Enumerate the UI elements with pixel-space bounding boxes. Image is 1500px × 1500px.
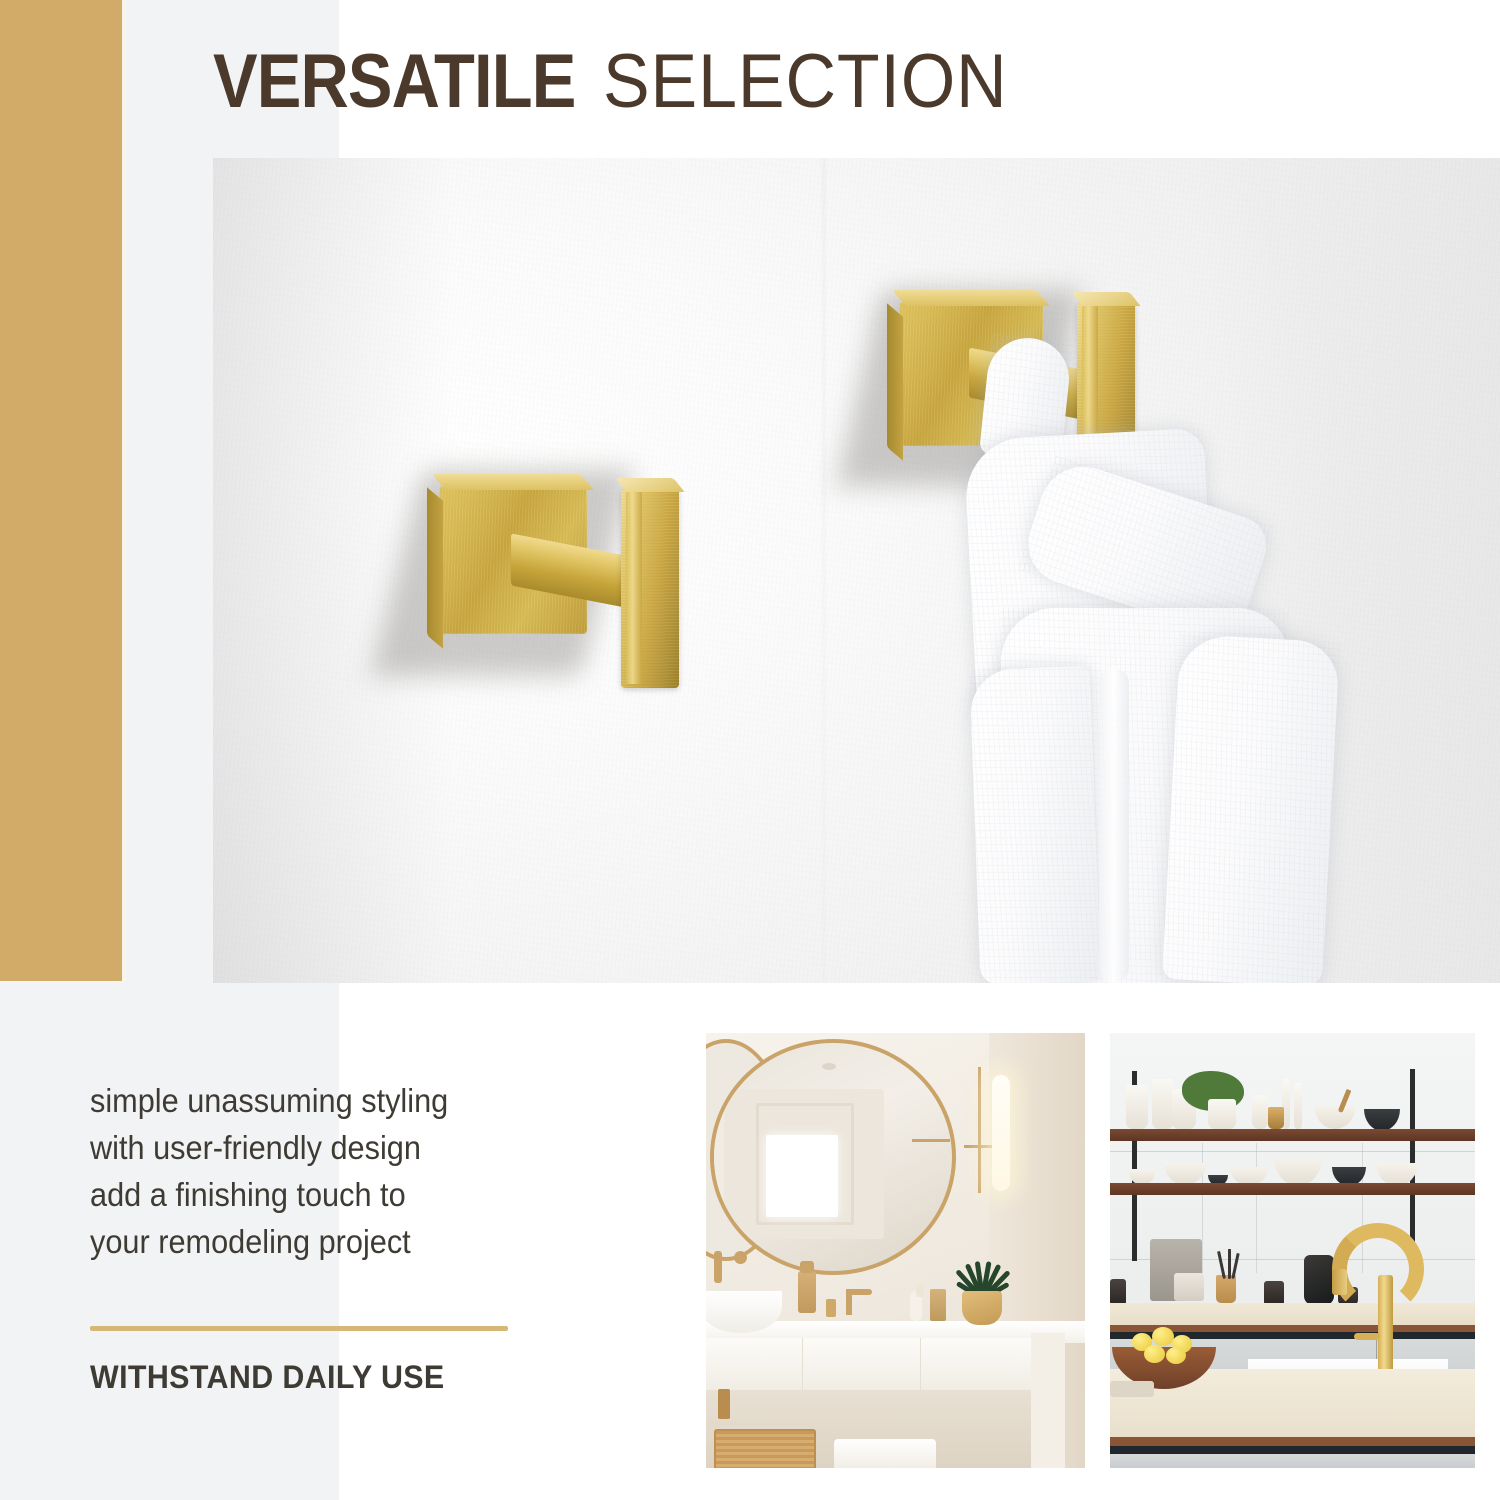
- mirror-reflection-rail: [912, 1139, 950, 1142]
- folded-towel: [834, 1439, 936, 1468]
- glass-vase: [1294, 1083, 1302, 1129]
- gold-planter: [962, 1291, 1002, 1325]
- counter-faucet-stem: [846, 1289, 852, 1315]
- hanging-leather-strap: [718, 1389, 730, 1419]
- tagline: WITHSTAND DAILY USE: [90, 1359, 445, 1396]
- description-line: your remodeling project: [90, 1219, 583, 1266]
- hero-product-photo: [213, 158, 1500, 983]
- island-reveal: [1110, 1446, 1475, 1454]
- ivory-seam: [122, 0, 126, 981]
- gold-tumbler: [930, 1289, 946, 1321]
- dark-cup: [1110, 1279, 1126, 1305]
- hook-bar-top-bevel: [1072, 292, 1141, 306]
- vanity-cabinet: [706, 1338, 1047, 1391]
- description-line: add a finishing touch to: [90, 1172, 583, 1219]
- hook-plate-top-bevel: [892, 290, 1049, 306]
- ceramic-pitcher: [1152, 1079, 1174, 1129]
- hook-bar-highlight: [1082, 306, 1098, 494]
- black-canister: [1264, 1281, 1284, 1305]
- faucet-spout: [1332, 1269, 1347, 1295]
- wicker-basket: [714, 1429, 816, 1468]
- walnut-shelf-top: [1110, 1129, 1475, 1141]
- lemon: [1152, 1327, 1174, 1346]
- wall-faucet-handle: [734, 1251, 747, 1264]
- towel-hook-left: [413, 428, 733, 718]
- utensil: [1228, 1249, 1231, 1279]
- mirror-reflection-ceiling-light: [822, 1063, 836, 1070]
- mirror-reflection-window: [766, 1135, 838, 1217]
- wall-corner-line: [823, 158, 825, 983]
- glass-jar: [1252, 1095, 1268, 1129]
- soap-dispenser-pump: [800, 1261, 814, 1273]
- lemon: [1144, 1345, 1165, 1363]
- wall-faucet-spout: [714, 1251, 722, 1283]
- gold-divider-rule: [90, 1326, 508, 1331]
- tile-grout-line: [1256, 1143, 1257, 1273]
- title-light-word: SELECTION: [603, 44, 1008, 120]
- thumbnail-bathroom: [706, 1033, 1085, 1468]
- description-line: simple unassuming styling: [90, 1078, 583, 1125]
- island-edge: [1110, 1437, 1475, 1446]
- lotion-bottle-cap: [916, 1285, 924, 1297]
- page-title: VERSATILE SELECTION: [213, 34, 1313, 130]
- island-cabinets: [1110, 1454, 1475, 1468]
- vanity-drawer-seam: [920, 1338, 921, 1390]
- wall-shading-right: [1200, 158, 1500, 983]
- round-gold-mirror: [710, 1039, 956, 1275]
- ceramic-pitcher: [1126, 1085, 1148, 1129]
- hook-bar-top-bevel: [616, 478, 685, 492]
- honey-jar: [1268, 1107, 1284, 1129]
- counter-accessory-small: [826, 1299, 836, 1317]
- utensil-holder: [1216, 1275, 1236, 1303]
- tile-grout-line: [1110, 1151, 1475, 1152]
- description-block: simple unassuming styling with user-frie…: [90, 1078, 620, 1265]
- cloth-napkin: [1110, 1381, 1154, 1397]
- hook-bar-highlight: [626, 492, 642, 684]
- coffee-machine-base: [1174, 1273, 1204, 1301]
- sconce-light: [992, 1075, 1010, 1191]
- walnut-shelf-bottom: [1110, 1183, 1475, 1195]
- soap-dispenser: [798, 1271, 816, 1313]
- marketing-page: VERSATILE SELECTION: [0, 0, 1500, 1500]
- title-bold-word: VERSATILE: [213, 44, 575, 120]
- hook-plate-top-bevel: [432, 474, 593, 490]
- gold-accent-bar: [0, 0, 122, 981]
- faucet-handle: [1354, 1333, 1380, 1340]
- description-line: with user-friendly design: [90, 1125, 583, 1172]
- vanity-drawer-seam: [802, 1338, 803, 1390]
- towel-hook-right: [873, 250, 1193, 540]
- thumbnail-kitchen: [1110, 1033, 1475, 1468]
- lemon: [1166, 1347, 1186, 1364]
- hook-plate-side-bevel: [887, 303, 903, 460]
- hook-plate-side-bevel: [427, 487, 443, 648]
- sconce-rod: [978, 1067, 981, 1193]
- vanity-side-panel: [1031, 1333, 1065, 1468]
- ceramic-vase: [1208, 1099, 1236, 1129]
